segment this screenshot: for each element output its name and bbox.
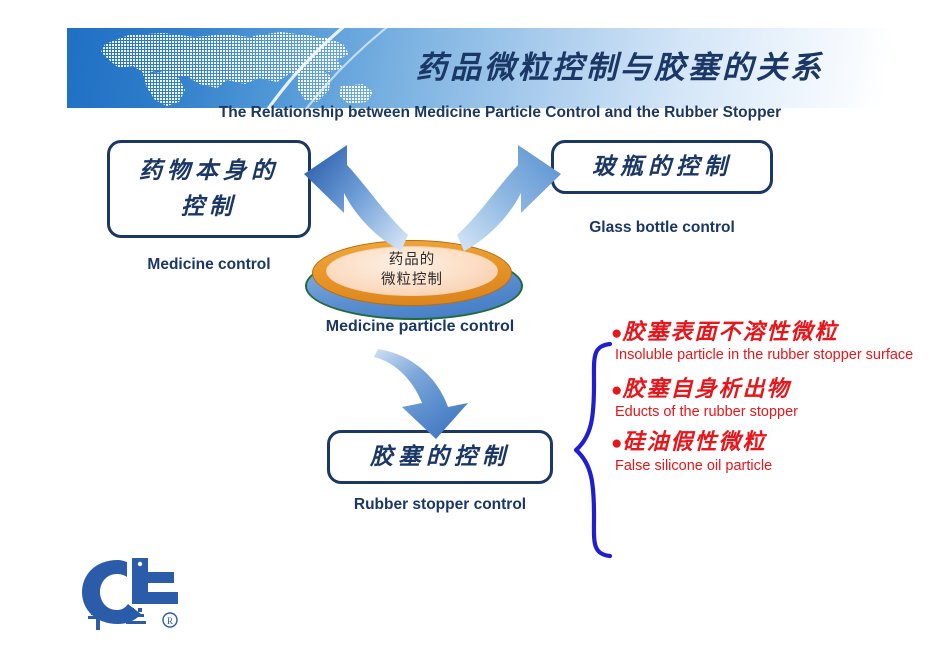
red-item-3-en: False silicone oil particle — [611, 457, 931, 476]
red-item-2-cn: ●胶塞自身析出物 — [611, 375, 931, 403]
svg-text:R: R — [167, 616, 173, 626]
box-medicine-control[interactable]: 药物本身的 控制 — [107, 140, 311, 238]
red-item-1-cn: ●胶塞表面不溶性微粒 — [611, 318, 931, 346]
box-rubber-stopper-control[interactable]: 胶塞的控制 — [327, 430, 553, 484]
bullet-icon: ● — [611, 433, 622, 454]
red-item-list: ●胶塞表面不溶性微粒 Insoluble particle in the rub… — [611, 318, 931, 477]
box-rubber-label: 胶塞的控制 — [370, 439, 510, 475]
page-title: 药品微粒控制与胶塞的关系 — [340, 42, 900, 87]
red-item-3-cn: ●硅油假性微粒 — [611, 428, 931, 456]
red-item-2-en: Educts of the rubber stopper — [611, 403, 931, 422]
page-subtitle: The Relationship between Medicine Partic… — [60, 104, 936, 122]
box-medicine-label: 药物本身的 控制 — [139, 153, 279, 224]
red-list-item: ●硅油假性微粒 False silicone oil particle — [611, 428, 931, 475]
caption-rubber-stopper-control: Rubber stopper control — [327, 496, 553, 514]
red-item-1-en: Insoluble particle in the rubber stopper… — [611, 346, 931, 365]
caption-medicine-particle-control: Medicine particle control — [280, 318, 560, 336]
disc-label-line1: 药品的 — [389, 251, 436, 271]
central-disc[interactable]: 药品的 微粒控制 — [300, 232, 530, 322]
red-item-1-cn-text: 胶塞表面不溶性微粒 — [622, 319, 838, 345]
red-item-2-cn-text: 胶塞自身析出物 — [622, 376, 790, 402]
bullet-icon: ● — [611, 380, 622, 401]
curly-brace-icon — [572, 340, 616, 560]
box-glass-bottle-control[interactable]: 玻瓶的控制 — [551, 140, 773, 194]
caption-medicine-control: Medicine control — [107, 256, 311, 274]
arrow-down-icon — [372, 345, 482, 440]
red-item-3-cn-text: 硅油假性微粒 — [622, 429, 766, 455]
red-list-item: ●胶塞自身析出物 Educts of the rubber stopper — [611, 375, 931, 422]
red-list-item: ●胶塞表面不溶性微粒 Insoluble particle in the rub… — [611, 318, 931, 365]
box-glass-label: 玻瓶的控制 — [592, 149, 732, 185]
bullet-icon: ● — [611, 323, 622, 344]
hualan-logo-icon: R — [78, 552, 190, 634]
disc-label-line2: 微粒控制 — [381, 271, 443, 291]
caption-glass-bottle-control: Glass bottle control — [551, 219, 773, 237]
disc-label: 药品的 微粒控制 — [326, 246, 498, 296]
